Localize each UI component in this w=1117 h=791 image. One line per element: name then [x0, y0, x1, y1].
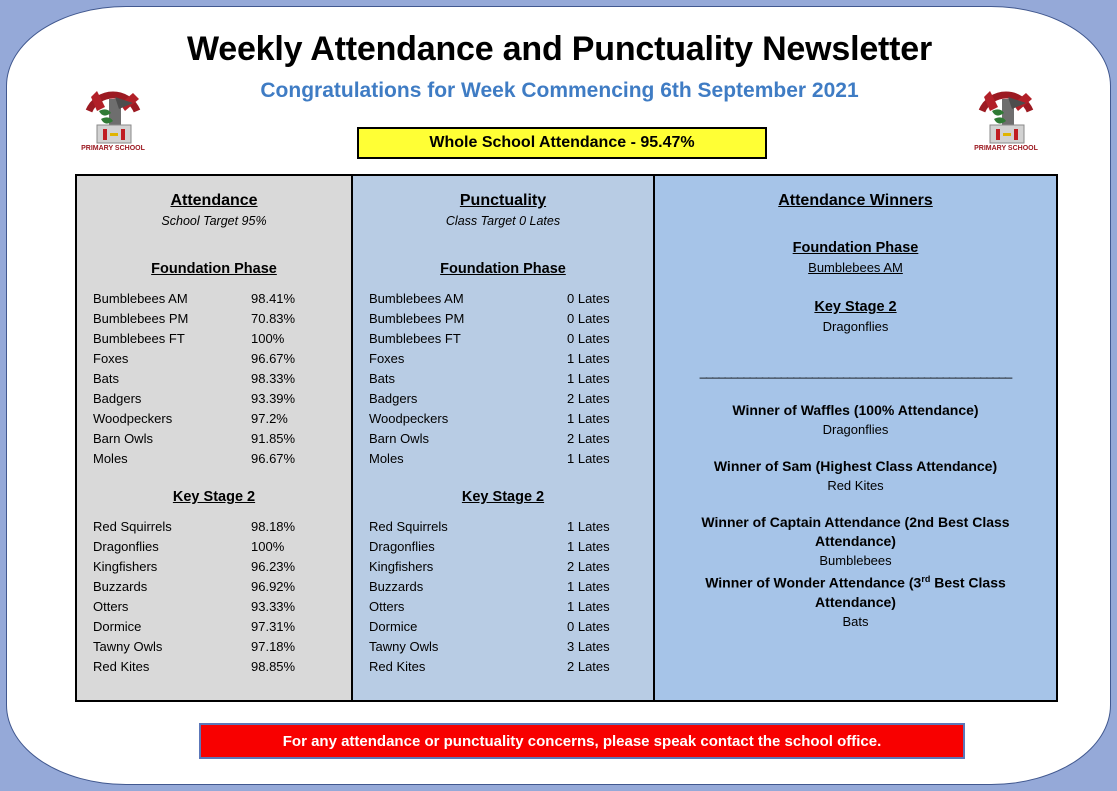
wonder-award-title-pre: Winner of Wonder Attendance (3: [705, 575, 921, 591]
attendance-panel: Attendance School Target 95% Foundation …: [77, 176, 351, 700]
winners-foundation-winner: Bumblebees AM: [655, 260, 1056, 275]
row-class-name: Bumblebees PM: [369, 309, 464, 329]
row-value: 1 Lates: [567, 537, 639, 557]
attendance-ks2-list: Red Squirrels98.18%Dragonflies100%Kingfi…: [77, 517, 351, 677]
punctuality-panel: Punctuality Class Target 0 Lates Foundat…: [353, 176, 653, 700]
table-row: Bumblebees PM70.83%: [93, 309, 337, 329]
row-value: 98.85%: [251, 657, 337, 677]
row-class-name: Kingfishers: [369, 557, 433, 577]
row-value: 98.41%: [251, 289, 337, 309]
punctuality-ks2-heading: Key Stage 2: [353, 489, 653, 505]
row-class-name: Barn Owls: [93, 429, 153, 449]
row-class-name: Buzzards: [369, 577, 423, 597]
footer-notice-banner: For any attendance or punctuality concer…: [199, 723, 965, 759]
award-winner: Bumblebees: [655, 551, 1056, 570]
row-class-name: Red Kites: [369, 657, 425, 677]
winners-foundation-heading: Foundation Phase: [655, 240, 1056, 256]
page-title: Weekly Attendance and Punctuality Newsle…: [7, 30, 1112, 69]
row-class-name: Foxes: [369, 349, 404, 369]
row-value: 97.18%: [251, 637, 337, 657]
table-row: Dormice97.31%: [93, 617, 337, 637]
attendance-foundation-list: Bumblebees AM98.41%Bumblebees PM70.83%Bu…: [77, 289, 351, 469]
table-row: Dragonflies100%: [93, 537, 337, 557]
table-row: Kingfishers96.23%: [93, 557, 337, 577]
award-winner: Red Kites: [655, 476, 1056, 495]
table-row: Bats1 Lates: [369, 369, 639, 389]
award-title: Winner of Waffles (100% Attendance): [655, 401, 1056, 420]
table-row: Badgers2 Lates: [369, 389, 639, 409]
punctuality-ks2-list: Red Squirrels1 LatesDragonflies1 LatesKi…: [353, 517, 653, 677]
row-class-name: Bumblebees PM: [93, 309, 188, 329]
table-row: Badgers93.39%: [93, 389, 337, 409]
row-class-name: Moles: [93, 449, 128, 469]
row-class-name: Bumblebees FT: [93, 329, 185, 349]
punctuality-panel-title: Punctuality: [353, 192, 653, 210]
table-row: Buzzards1 Lates: [369, 577, 639, 597]
row-class-name: Badgers: [93, 389, 141, 409]
row-value: 1 Lates: [567, 449, 639, 469]
table-row: Dragonflies1 Lates: [369, 537, 639, 557]
row-class-name: Woodpeckers: [369, 409, 448, 429]
page-subtitle: Congratulations for Week Commencing 6th …: [7, 79, 1112, 103]
row-class-name: Otters: [93, 597, 128, 617]
table-row: Otters93.33%: [93, 597, 337, 617]
row-class-name: Bats: [93, 369, 119, 389]
table-row: Woodpeckers97.2%: [93, 409, 337, 429]
poster-inner-card: Weekly Attendance and Punctuality Newsle…: [6, 6, 1111, 785]
poster-header: Weekly Attendance and Punctuality Newsle…: [7, 7, 1112, 167]
attendance-winners-panel: Attendance Winners Foundation Phase Bumb…: [655, 176, 1056, 700]
winners-ks2-winner: Dragonflies: [655, 319, 1056, 334]
row-class-name: Dormice: [93, 617, 141, 637]
row-value: 2 Lates: [567, 557, 639, 577]
table-row: Foxes1 Lates: [369, 349, 639, 369]
attendance-panel-subtitle: School Target 95%: [77, 214, 351, 228]
row-class-name: Tawny Owls: [93, 637, 162, 657]
punctuality-foundation-list: Bumblebees AM0 LatesBumblebees PM0 Lates…: [353, 289, 653, 469]
row-value: 97.31%: [251, 617, 337, 637]
table-row: Barn Owls2 Lates: [369, 429, 639, 449]
data-panels: Attendance School Target 95% Foundation …: [75, 174, 1058, 702]
row-class-name: Moles: [369, 449, 404, 469]
row-value: 98.33%: [251, 369, 337, 389]
row-value: 93.39%: [251, 389, 337, 409]
row-class-name: Barn Owls: [369, 429, 429, 449]
whole-school-attendance-text: Whole School Attendance - 95.47%: [429, 134, 694, 152]
punctuality-panel-subtitle: Class Target 0 Lates: [353, 214, 653, 228]
wonder-award-winner: Bats: [655, 612, 1056, 631]
footer-notice-text: For any attendance or punctuality concer…: [283, 733, 882, 750]
newsletter-poster: Weekly Attendance and Punctuality Newsle…: [0, 0, 1117, 791]
table-row: Red Squirrels98.18%: [93, 517, 337, 537]
table-row: Red Kites2 Lates: [369, 657, 639, 677]
row-class-name: Dragonflies: [93, 537, 159, 557]
award-title: Winner of Captain Attendance (2nd Best C…: [655, 513, 1056, 551]
table-row: Otters1 Lates: [369, 597, 639, 617]
row-value: 96.67%: [251, 349, 337, 369]
table-row: Red Squirrels1 Lates: [369, 517, 639, 537]
row-class-name: Woodpeckers: [93, 409, 172, 429]
table-row: Bumblebees FT0 Lates: [369, 329, 639, 349]
row-value: 96.92%: [251, 577, 337, 597]
award-title: Winner of Sam (Highest Class Attendance): [655, 457, 1056, 476]
winners-divider: ________________________________________…: [667, 364, 1044, 379]
row-value: 1 Lates: [567, 369, 639, 389]
punctuality-foundation-heading: Foundation Phase: [353, 261, 653, 277]
row-value: 96.67%: [251, 449, 337, 469]
school-crest-icon: PRIMARY SCHOOL: [75, 77, 151, 153]
wonder-award-title: Winner of Wonder Attendance (3rd Best Cl…: [655, 570, 1056, 612]
school-crest-icon: PRIMARY SCHOOL: [968, 77, 1044, 153]
row-class-name: Kingfishers: [93, 557, 157, 577]
row-class-name: Tawny Owls: [369, 637, 438, 657]
row-value: 1 Lates: [567, 577, 639, 597]
row-value: 2 Lates: [567, 429, 639, 449]
row-value: 96.23%: [251, 557, 337, 577]
table-row: Red Kites98.85%: [93, 657, 337, 677]
row-value: 3 Lates: [567, 637, 639, 657]
whole-school-attendance-badge: Whole School Attendance - 95.47%: [357, 127, 767, 159]
table-row: Moles1 Lates: [369, 449, 639, 469]
row-value: 100%: [251, 329, 337, 349]
attendance-foundation-heading: Foundation Phase: [77, 261, 351, 277]
row-class-name: Buzzards: [93, 577, 147, 597]
svg-text:PRIMARY SCHOOL: PRIMARY SCHOOL: [974, 145, 1039, 152]
row-class-name: Bumblebees FT: [369, 329, 461, 349]
row-class-name: Bumblebees AM: [369, 289, 464, 309]
row-value: 91.85%: [251, 429, 337, 449]
row-value: 1 Lates: [567, 409, 639, 429]
row-value: 100%: [251, 537, 337, 557]
award-winner: Dragonflies: [655, 420, 1056, 439]
row-class-name: Bumblebees AM: [93, 289, 188, 309]
table-row: Woodpeckers1 Lates: [369, 409, 639, 429]
table-row: Barn Owls91.85%: [93, 429, 337, 449]
row-value: 70.83%: [251, 309, 337, 329]
row-class-name: Badgers: [369, 389, 417, 409]
row-class-name: Otters: [369, 597, 404, 617]
row-value: 93.33%: [251, 597, 337, 617]
svg-text:PRIMARY SCHOOL: PRIMARY SCHOOL: [81, 145, 146, 152]
table-row: Buzzards96.92%: [93, 577, 337, 597]
school-logo-left: PRIMARY SCHOOL: [75, 77, 151, 153]
row-value: 97.2%: [251, 409, 337, 429]
table-row: Dormice0 Lates: [369, 617, 639, 637]
table-row: Moles96.67%: [93, 449, 337, 469]
row-value: 2 Lates: [567, 657, 639, 677]
row-value: 0 Lates: [567, 617, 639, 637]
row-value: 1 Lates: [567, 517, 639, 537]
table-row: Bumblebees FT100%: [93, 329, 337, 349]
table-row: Tawny Owls97.18%: [93, 637, 337, 657]
attendance-panel-title: Attendance: [77, 192, 351, 210]
row-value: 0 Lates: [567, 309, 639, 329]
row-value: 0 Lates: [567, 289, 639, 309]
row-value: 0 Lates: [567, 329, 639, 349]
row-class-name: Bats: [369, 369, 395, 389]
row-value: 1 Lates: [567, 349, 639, 369]
table-row: Bumblebees AM0 Lates: [369, 289, 639, 309]
row-value: 1 Lates: [567, 597, 639, 617]
table-row: Kingfishers2 Lates: [369, 557, 639, 577]
table-row: Foxes96.67%: [93, 349, 337, 369]
winners-panel-title: Attendance Winners: [655, 192, 1056, 210]
row-class-name: Foxes: [93, 349, 128, 369]
school-logo-right: PRIMARY SCHOOL: [968, 77, 1044, 153]
row-class-name: Red Squirrels: [369, 517, 448, 537]
row-class-name: Dormice: [369, 617, 417, 637]
winners-awards-list: Winner of Waffles (100% Attendance)Drago…: [655, 401, 1056, 570]
table-row: Bumblebees AM98.41%: [93, 289, 337, 309]
row-value: 2 Lates: [567, 389, 639, 409]
row-class-name: Dragonflies: [369, 537, 435, 557]
attendance-ks2-heading: Key Stage 2: [77, 489, 351, 505]
table-row: Bats98.33%: [93, 369, 337, 389]
table-row: Tawny Owls3 Lates: [369, 637, 639, 657]
winners-ks2-heading: Key Stage 2: [655, 299, 1056, 315]
row-class-name: Red Squirrels: [93, 517, 172, 537]
wonder-award-ordinal-suffix: rd: [921, 574, 930, 584]
row-class-name: Red Kites: [93, 657, 149, 677]
row-value: 98.18%: [251, 517, 337, 537]
table-row: Bumblebees PM0 Lates: [369, 309, 639, 329]
